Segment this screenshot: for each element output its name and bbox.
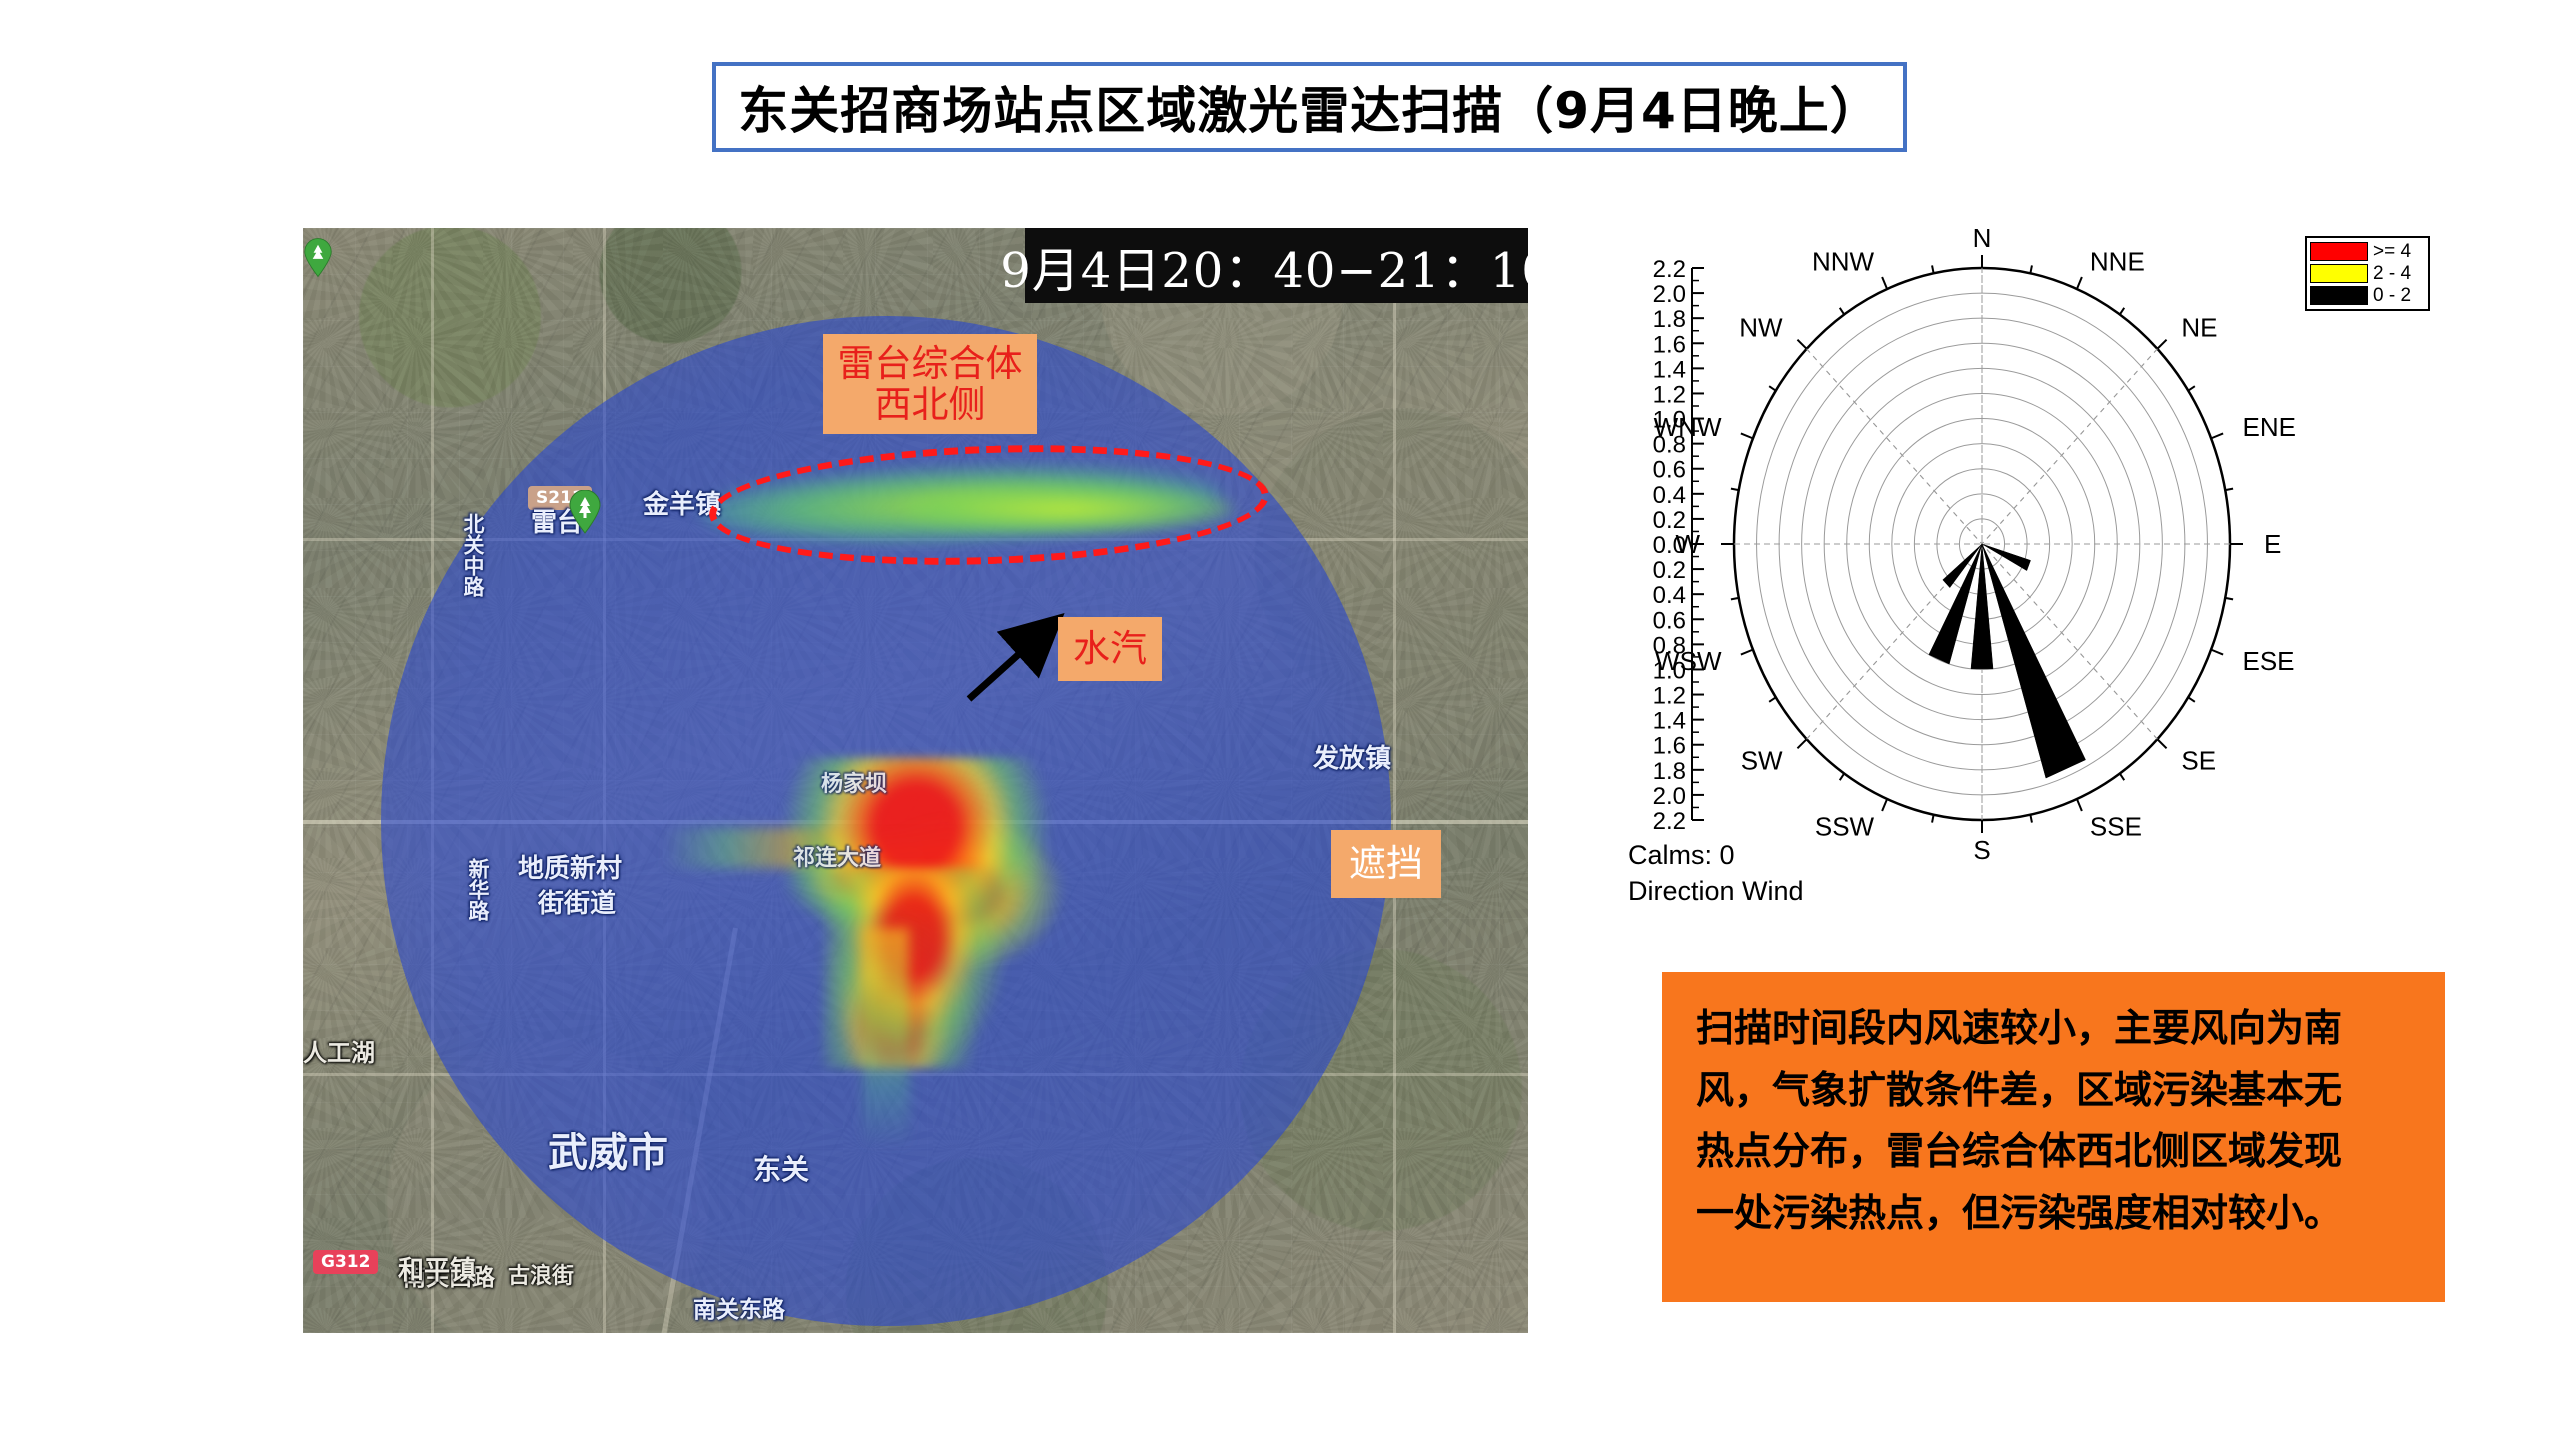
svg-text:1.6: 1.6 bbox=[1653, 733, 1686, 760]
svg-text:S: S bbox=[1973, 835, 1990, 865]
callout-leitai-line1: 雷台综合体 bbox=[838, 342, 1023, 385]
svg-text:WSW: WSW bbox=[1655, 646, 1722, 676]
svg-text:0.6: 0.6 bbox=[1653, 607, 1686, 634]
svg-text:2.2: 2.2 bbox=[1653, 808, 1686, 835]
wind-rose-chart: 2.22.01.81.61.41.21.00.80.60.40.20.00.20… bbox=[1620, 228, 2530, 928]
summary-line-1: 扫描时间段内风速较小，主要风向为南 bbox=[1696, 998, 2411, 1060]
callout-water-vapor: 水汽 bbox=[1058, 617, 1162, 681]
park-pin-icon bbox=[568, 490, 602, 534]
legend-label-2to4: 2 - 4 bbox=[2373, 263, 2411, 285]
svg-text:0.4: 0.4 bbox=[1653, 582, 1686, 609]
svg-text:1.6: 1.6 bbox=[1653, 331, 1686, 358]
wind-rose-plot: 2.22.01.81.61.41.21.00.80.60.40.20.00.20… bbox=[1620, 228, 2530, 928]
direction-wind-label: Direction Wind bbox=[1628, 876, 1804, 907]
callout-leitai-line2: 西北侧 bbox=[875, 383, 986, 426]
svg-text:W: W bbox=[1675, 529, 1700, 559]
slide-title-box: 东关招商场站点区域激光雷达扫描（9月4日晚上） bbox=[712, 62, 1907, 152]
svg-text:1.8: 1.8 bbox=[1653, 306, 1686, 333]
scan-timestamp: 9月4日20：40−21：10 bbox=[1025, 228, 1528, 303]
lidar-scan-map: S211 G312 雷台 金羊镇 地质新村 街街道 武威市 东关 发放镇 杨家坝… bbox=[303, 228, 1528, 1333]
svg-text:SE: SE bbox=[2181, 745, 2216, 775]
svg-text:1.2: 1.2 bbox=[1653, 683, 1686, 710]
legend-swatch-0to2 bbox=[2310, 286, 2368, 305]
legend-row-0to2: 0 - 2 bbox=[2310, 285, 2425, 306]
svg-text:SSE: SSE bbox=[2090, 812, 2142, 842]
svg-text:NNE: NNE bbox=[2090, 246, 2145, 276]
summary-line-4: 一处污染热点，但污染强度相对较小。 bbox=[1696, 1183, 2411, 1245]
legend-swatch-2to4 bbox=[2310, 264, 2368, 283]
svg-text:WNW: WNW bbox=[1654, 412, 1722, 442]
legend-label-0to2: 0 - 2 bbox=[2373, 285, 2411, 307]
wind-rose-legend: >= 4 2 - 4 0 - 2 bbox=[2305, 236, 2430, 311]
svg-text:SW: SW bbox=[1741, 745, 1783, 775]
summary-text-box: 扫描时间段内风速较小，主要风向为南 风，气象扩散条件差，区域污染基本无 热点分布… bbox=[1662, 972, 2445, 1302]
svg-text:2.0: 2.0 bbox=[1653, 783, 1686, 810]
heat-plume-center-south bbox=[823, 868, 1003, 1068]
svg-text:SSW: SSW bbox=[1815, 812, 1875, 842]
svg-text:1.4: 1.4 bbox=[1653, 708, 1686, 735]
svg-text:ENE: ENE bbox=[2243, 412, 2296, 442]
svg-text:0.6: 0.6 bbox=[1653, 457, 1686, 484]
road-vertical-3 bbox=[1393, 228, 1396, 1333]
heat-plume-south-tail bbox=[863, 928, 909, 1148]
calms-label: Calms: 0 bbox=[1628, 840, 1735, 871]
summary-line-2: 风，气象扩散条件差，区域污染基本无 bbox=[1696, 1060, 2411, 1122]
svg-text:NW: NW bbox=[1739, 313, 1783, 343]
legend-row-2to4: 2 - 4 bbox=[2310, 263, 2425, 284]
svg-text:0.2: 0.2 bbox=[1653, 557, 1686, 584]
callout-obstruction: 遮挡 bbox=[1331, 830, 1441, 898]
svg-text:E: E bbox=[2264, 529, 2281, 559]
legend-row-ge4: >= 4 bbox=[2310, 241, 2425, 262]
legend-label-ge4: >= 4 bbox=[2373, 241, 2411, 263]
route-shield-g312: G312 bbox=[313, 1250, 378, 1274]
svg-text:NE: NE bbox=[2181, 313, 2217, 343]
svg-text:N: N bbox=[1973, 228, 1992, 253]
svg-text:1.8: 1.8 bbox=[1653, 758, 1686, 785]
legend-swatch-ge4 bbox=[2310, 242, 2368, 261]
page-title: 东关招商场站点区域激光雷达扫描（9月4日晚上） bbox=[738, 71, 1881, 143]
svg-text:1.4: 1.4 bbox=[1653, 356, 1686, 383]
summary-line-3: 热点分布，雷台综合体西北侧区域发现 bbox=[1696, 1121, 2411, 1183]
svg-text:2.0: 2.0 bbox=[1653, 281, 1686, 308]
park-pin-icon-2 bbox=[303, 238, 333, 278]
svg-text:ESE: ESE bbox=[2243, 646, 2295, 676]
callout-leitai-northwest: 雷台综合体 西北侧 bbox=[823, 334, 1037, 434]
svg-text:NNW: NNW bbox=[1812, 246, 1875, 276]
svg-text:0.4: 0.4 bbox=[1653, 482, 1686, 509]
svg-text:1.2: 1.2 bbox=[1653, 381, 1686, 408]
svg-text:2.2: 2.2 bbox=[1653, 256, 1686, 283]
